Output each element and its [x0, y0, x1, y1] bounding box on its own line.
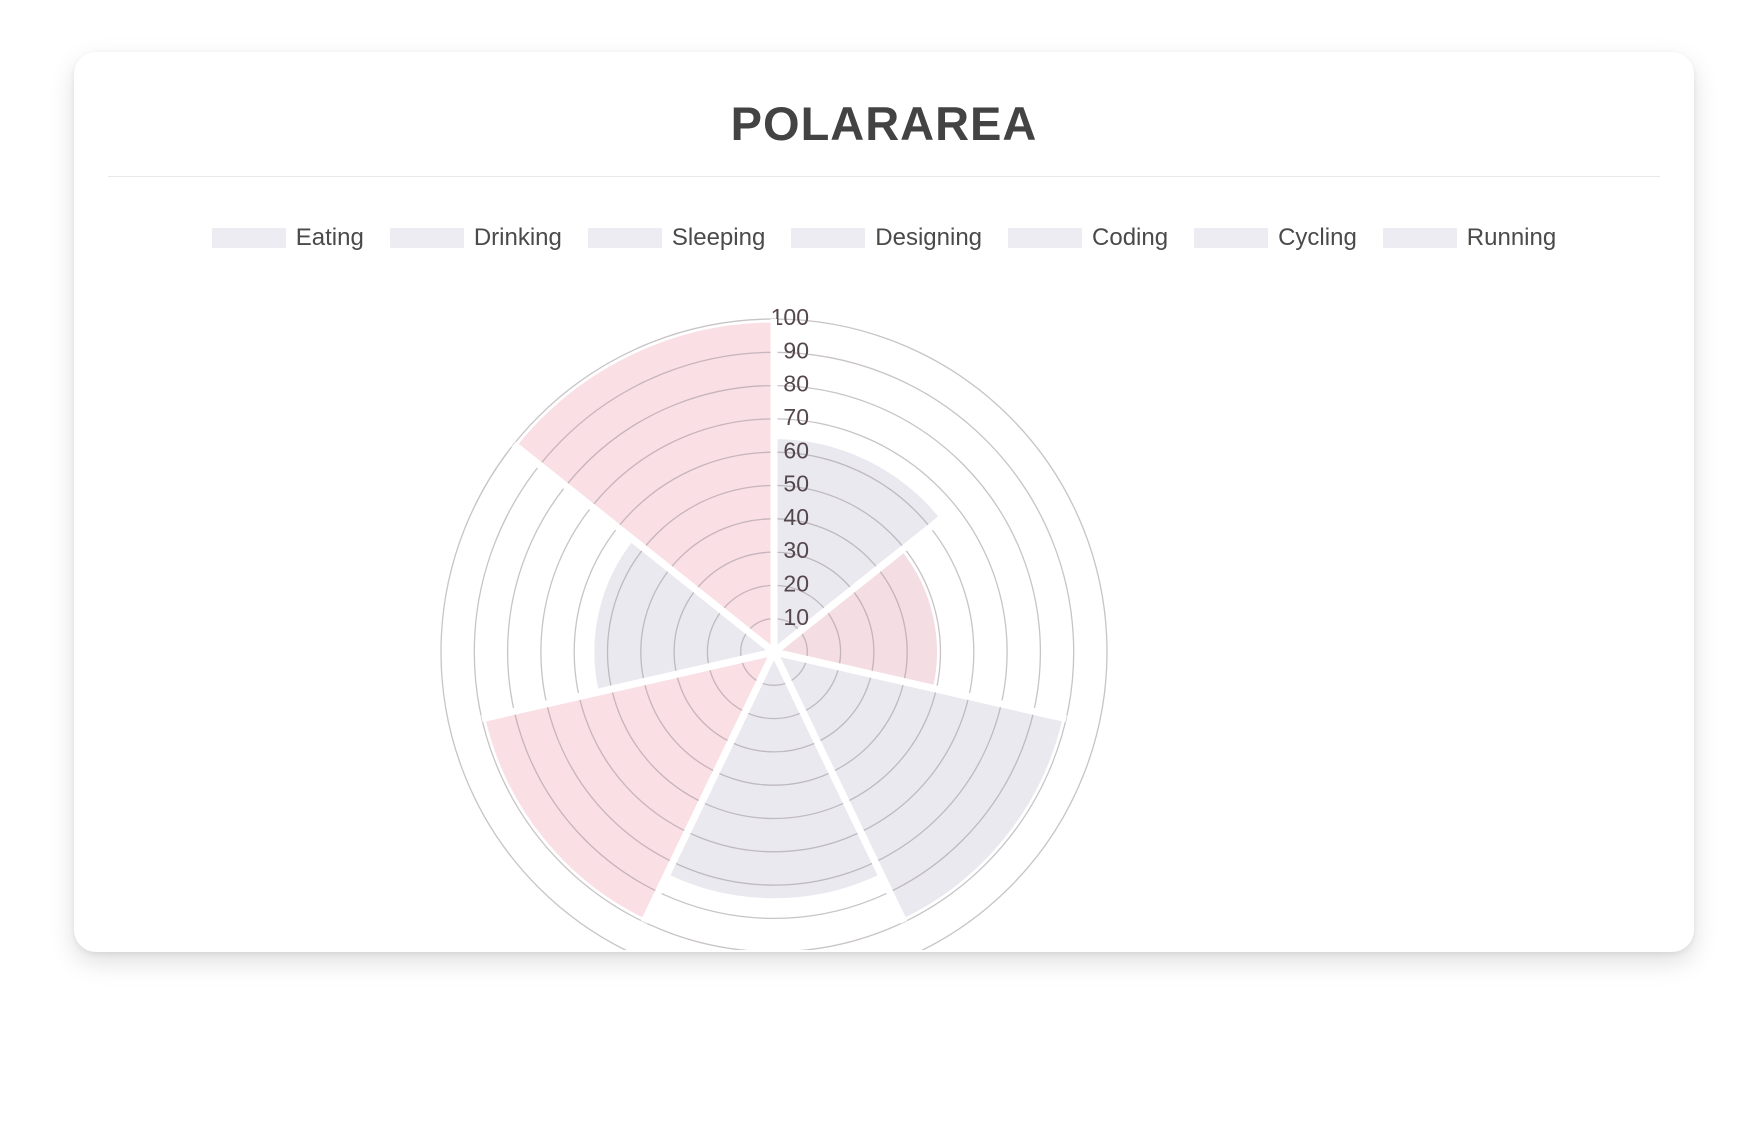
r-tick-90: 90: [783, 337, 809, 363]
r-tick-10: 10: [783, 604, 809, 630]
chart-card: POLARAREA EatingDrinkingSleepingDesignin…: [74, 52, 1694, 952]
header-divider: [108, 176, 1660, 177]
polar-area-chart: 102030405060708090100: [74, 210, 1694, 950]
r-tick-70: 70: [783, 404, 809, 430]
page-root: POLARAREA EatingDrinkingSleepingDesignin…: [0, 0, 1763, 1146]
r-tick-20: 20: [783, 570, 809, 596]
r-tick-30: 30: [783, 537, 809, 563]
r-tick-50: 50: [783, 471, 809, 497]
r-tick-80: 80: [783, 371, 809, 397]
polar-area-svg: 102030405060708090100: [74, 210, 1694, 950]
r-tick-40: 40: [783, 504, 809, 530]
page-title: POLARAREA: [74, 96, 1694, 151]
r-tick-60: 60: [783, 437, 809, 463]
